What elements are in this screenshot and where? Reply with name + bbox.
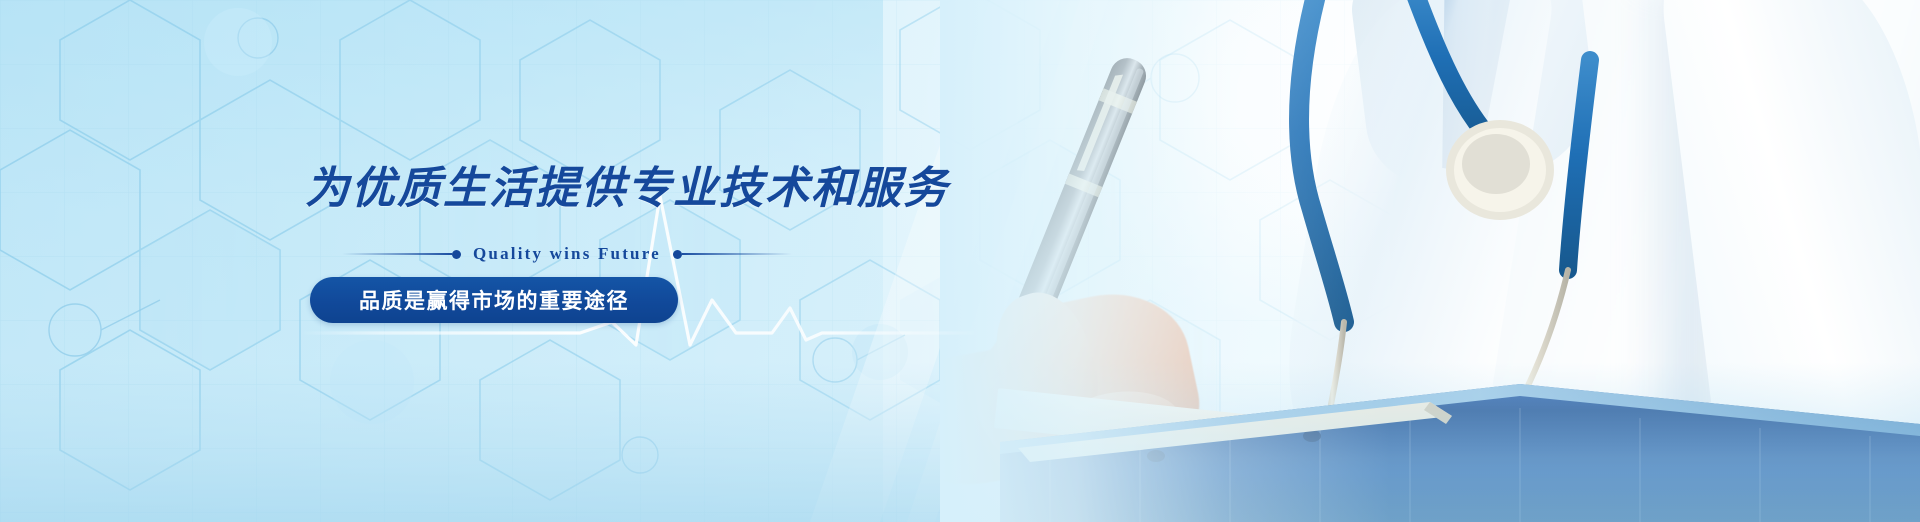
page-title: 为优质生活提供专业技术和服务 — [305, 152, 949, 216]
slogan-button-label: 品质是赢得市场的重要途径 — [359, 285, 629, 315]
tagline-dot-left-icon — [452, 250, 461, 259]
hero-banner: 为优质生活提供专业技术和服务 Quality wins Future 品质是赢得… — [0, 0, 1920, 522]
tagline-dot-right-icon — [673, 250, 682, 259]
tagline-row: Quality wins Future — [342, 244, 792, 264]
tagline-rule-right — [682, 253, 792, 255]
tagline-rule-left — [342, 253, 452, 255]
tagline-text: Quality wins Future — [461, 244, 673, 264]
slogan-button[interactable]: 品质是赢得市场的重要途径 — [310, 277, 678, 323]
banner-content: 为优质生活提供专业技术和服务 Quality wins Future 品质是赢得… — [0, 0, 1920, 522]
